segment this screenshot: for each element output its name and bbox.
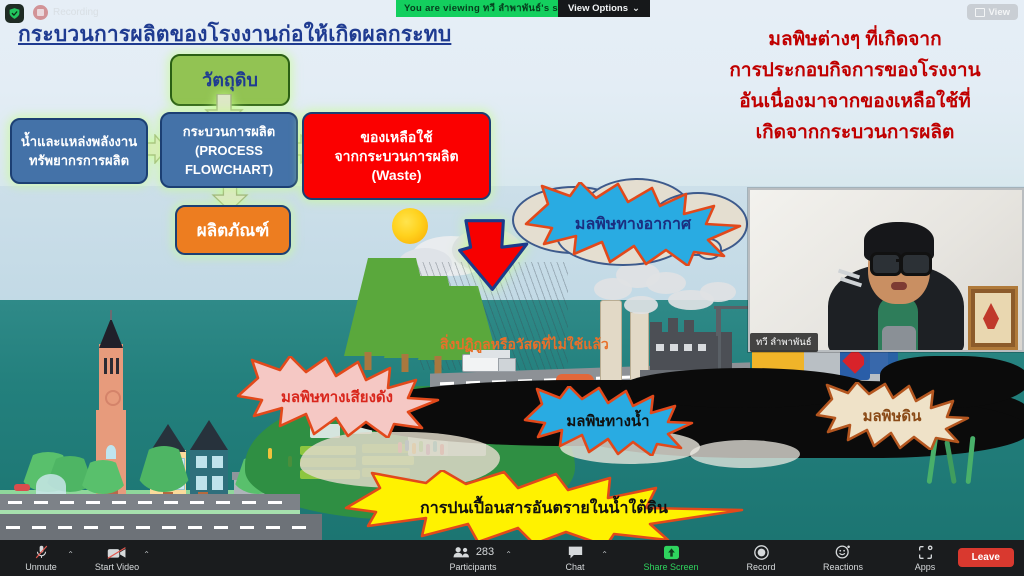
wall-picture-frame: [968, 286, 1018, 350]
burst-air-label: มลพิษทางอากาศ: [575, 212, 691, 237]
burst-water-label: มลพิษทางน้ำ: [566, 409, 649, 433]
leave-button[interactable]: Leave: [958, 548, 1014, 567]
toolbar-share-screen-label: Share Screen: [643, 562, 698, 572]
crane-mast: [718, 306, 721, 374]
chevron-up-icon[interactable]: ⌃: [505, 550, 512, 559]
refuse-label: สิ่งปฏิกูลหรือวัสดุที่ไม่ใช้แล้ว: [440, 334, 609, 356]
glasses-left-lens: [870, 252, 902, 276]
water-energy-line-1: น้ำและแหล่งพลังงาน: [21, 132, 137, 151]
view-layout-button[interactable]: View: [967, 4, 1018, 20]
burst-groundwater-contamination: การปนเปื้อนสารอันตรายในน้ำใต้ดิน: [338, 470, 750, 540]
burst-water-pollution: มลพิษทางน้ำ: [520, 386, 696, 456]
slide-right-title: มลพิษต่างๆ ที่เกิดจาก การประกอบกิจการของ…: [700, 24, 1010, 148]
toolbar-apps-button[interactable]: Apps: [896, 545, 954, 572]
toolbar-participants-button[interactable]: 283 Participants ⌃: [444, 545, 502, 572]
person-mouth: [891, 282, 907, 290]
process-line-1: กระบวนการผลิต: [183, 122, 275, 141]
shield-check-icon[interactable]: [5, 4, 24, 23]
chevron-down-icon: ⌄: [632, 3, 640, 14]
raw-material-label: วัตถุดิบ: [202, 71, 258, 90]
right-title-line-4: เกิดจากกระบวนการผลิต: [700, 117, 1010, 148]
recording-stop-icon: [33, 5, 48, 20]
toolbar-chat-label: Chat: [565, 562, 584, 572]
burst-groundwater-label: การปนเปื้อนสารอันตรายในน้ำใต้ดิน: [420, 496, 668, 521]
participants-count: 283: [476, 546, 494, 558]
parked-car: [14, 484, 30, 491]
truck-cab: [498, 358, 516, 372]
flow-box-process: กระบวนการผลิต (PROCESS FLOWCHART): [160, 112, 298, 188]
person-figure: [268, 448, 272, 459]
reactions-smiley-icon: [835, 545, 851, 560]
product-label: ผลิตภัณฑ์: [197, 221, 270, 240]
toolbar-participants-label: Participants: [449, 562, 496, 572]
toolbar-start-video-label: Start Video: [95, 562, 139, 572]
meeting-toolbar: Unmute ⌃ Start Video ⌃: [0, 540, 1024, 576]
toolbar-record-label: Record: [746, 562, 775, 572]
glasses-bridge: [896, 259, 902, 262]
right-title-line-2: การประกอบกิจการของโรงงาน: [700, 55, 1010, 86]
chevron-up-icon[interactable]: ⌃: [143, 550, 150, 559]
burst-air-pollution: มลพิษทางอากาศ: [518, 182, 748, 266]
toolbar-reactions-label: Reactions: [823, 562, 863, 572]
process-line-3: FLOWCHART): [185, 160, 273, 179]
apps-icon: [918, 545, 933, 560]
waste-line-1: ของเหลือใช้: [360, 128, 432, 147]
recording-indicator[interactable]: Recording: [33, 5, 99, 20]
toolbar-unmute-button[interactable]: Unmute ⌃: [12, 545, 70, 572]
zoom-meeting-window: สิ่งปฏิกูลหรือวัสดุที่ไม่ใช้แล้ว กระบวนก…: [0, 0, 1024, 576]
water-energy-line-2: ทรัพยากรการผลิต: [29, 151, 129, 170]
sun-icon: [392, 208, 428, 244]
view-options-label: View Options: [568, 3, 628, 14]
person-figure: [288, 456, 292, 467]
share-screen-icon: [663, 545, 680, 560]
recording-label: Recording: [53, 7, 99, 18]
participant-name-label: ทวี ลำพาพันธ์: [750, 333, 818, 352]
waste-line-2: จากกระบวนการผลิต: [334, 147, 458, 166]
chat-bubble-icon: [567, 545, 584, 560]
right-title-line-1: มลพิษต่างๆ ที่เกิดจาก: [700, 24, 1010, 55]
burst-noise-label: มลพิษทางเสียงดัง: [281, 385, 393, 409]
right-title-line-3: อันเนื่องมาจากของเหลือใช้ที่: [700, 86, 1010, 117]
microphone-muted-icon: [34, 545, 49, 560]
toolbar-unmute-label: Unmute: [25, 562, 57, 572]
waste-line-3: (Waste): [371, 166, 421, 185]
burst-soil-label: มลพิษดิน: [863, 404, 922, 428]
burst-noise-pollution: มลพิษทางเสียงดัง: [232, 356, 442, 438]
toolbar-start-video-button[interactable]: Start Video ⌃: [88, 545, 146, 572]
participants-icon: 283: [452, 545, 494, 560]
slide-title: กระบวนการผลิตของโรงงานก่อให้เกิดผลกระทบ: [18, 18, 451, 51]
chevron-up-icon[interactable]: ⌃: [67, 550, 74, 559]
flow-box-product: ผลิตภัณฑ์: [175, 205, 291, 255]
toolbar-record-button[interactable]: Record: [732, 545, 790, 572]
burst-soil-pollution: มลพิษดิน: [812, 382, 972, 450]
participant-video-tile[interactable]: [748, 188, 1024, 352]
toolbar-chat-button[interactable]: Chat ⌃: [546, 545, 604, 572]
process-line-2: (PROCESS: [195, 141, 263, 160]
record-circle-icon: [754, 545, 769, 560]
toolbar-apps-label: Apps: [915, 562, 936, 572]
leave-label: Leave: [972, 552, 1000, 563]
grid-view-icon: [975, 8, 985, 17]
sludge-deposit: [690, 440, 800, 468]
toolbar-reactions-button[interactable]: Reactions: [814, 545, 872, 572]
flow-box-water-energy: น้ำและแหล่งพลังงาน ทรัพยากรการผลิต: [10, 118, 148, 184]
person-collar: [882, 326, 916, 352]
chevron-up-icon[interactable]: ⌃: [601, 550, 608, 559]
glasses-right-lens: [900, 252, 932, 276]
view-options-button[interactable]: View Options ⌄: [558, 0, 650, 17]
view-button-label: View: [989, 7, 1010, 18]
flow-box-waste: ของเหลือใช้ จากกระบวนการผลิต (Waste): [302, 112, 491, 200]
toolbar-share-screen-button[interactable]: Share Screen: [636, 545, 706, 572]
camera-muted-icon: [107, 545, 127, 560]
